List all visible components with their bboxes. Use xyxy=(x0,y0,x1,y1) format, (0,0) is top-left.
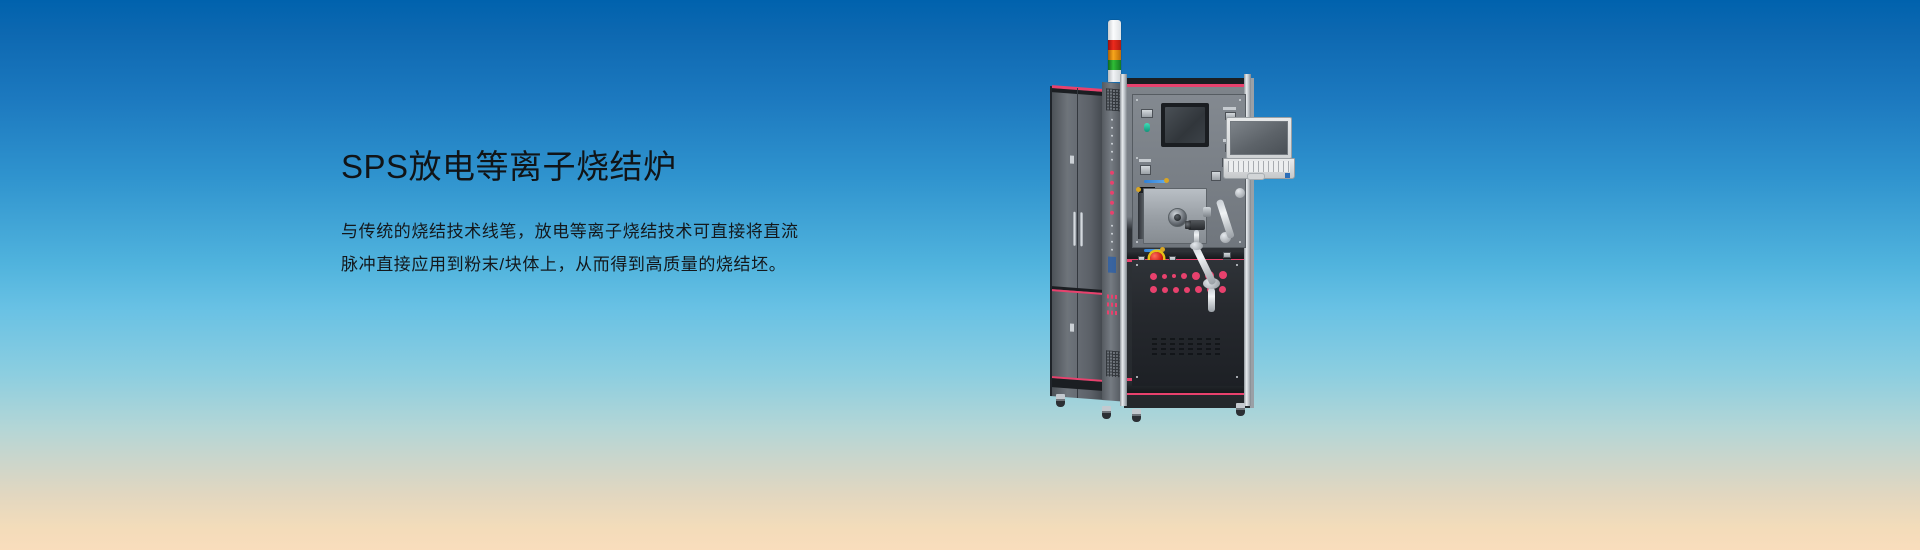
connector-dot xyxy=(1110,191,1114,195)
description-line-1: 与传统的烧结技术线笔，放电等离子烧结技术可直接将直流 xyxy=(341,215,901,248)
electrode-connector-panel xyxy=(1132,260,1244,386)
terminal-block xyxy=(1111,303,1113,307)
indicator-dot xyxy=(1111,159,1113,161)
valve-knob-lower[interactable] xyxy=(1160,247,1165,252)
terminal-block xyxy=(1115,311,1117,315)
indicator-dot xyxy=(1111,143,1113,145)
connector-dot xyxy=(1110,201,1114,205)
terminal-block xyxy=(1115,303,1117,307)
indicator-dot xyxy=(1111,151,1113,153)
indicator-dot xyxy=(1111,241,1113,243)
panel-knob[interactable] xyxy=(1136,187,1141,192)
ventilation-slots xyxy=(1152,338,1224,355)
power-toggle-switch[interactable] xyxy=(1141,109,1153,118)
laptop-screen[interactable] xyxy=(1230,121,1288,155)
connector-dot xyxy=(1219,286,1226,293)
camera-lens-icon xyxy=(1185,221,1191,229)
panel-button-far-right-1[interactable] xyxy=(1223,252,1231,258)
cabinet-door-handle-right[interactable] xyxy=(1080,212,1083,246)
rear-control-cabinet xyxy=(1050,86,1104,400)
panel-screw xyxy=(1136,264,1138,266)
panel-label-left-1 xyxy=(1139,159,1151,162)
indicator-dot xyxy=(1111,135,1113,137)
panel-label-right-1 xyxy=(1223,107,1236,110)
indicator-dot xyxy=(1111,249,1113,251)
hmi-touchscreen[interactable] xyxy=(1165,107,1205,143)
connector-dot xyxy=(1110,211,1114,215)
stack-light-amber xyxy=(1108,50,1121,60)
andon-stack-light-icon xyxy=(1108,20,1121,82)
terminal-block xyxy=(1115,295,1117,299)
valve-knob-upper[interactable] xyxy=(1164,178,1169,183)
monitor-arm-post xyxy=(1208,288,1215,312)
hero-text-block: SPS放电等离子烧结炉 与传统的烧结技术线笔，放电等离子烧结技术可直接将直流 脉… xyxy=(341,145,901,281)
frame-post-left xyxy=(1120,74,1127,406)
panel-screw xyxy=(1136,241,1138,243)
indicator-dot xyxy=(1111,233,1113,235)
panel-screw xyxy=(1239,99,1241,101)
connector-dot xyxy=(1172,274,1176,278)
panel-button-left-1[interactable] xyxy=(1140,165,1151,175)
cabinet-latch-upper[interactable] xyxy=(1070,155,1074,163)
caster-wheel xyxy=(1132,409,1141,422)
terminal-block xyxy=(1107,302,1109,306)
control-laptop[interactable] xyxy=(1226,117,1296,179)
body-top-accent-stripe xyxy=(1126,84,1248,87)
stack-light-red xyxy=(1108,40,1121,50)
connector-dot xyxy=(1110,181,1114,185)
terminal-block xyxy=(1107,294,1109,298)
description-line-2: 脉冲直接应用到粉末/块体上，从而得到高质量的烧结坯。 xyxy=(341,248,901,281)
connector-dot xyxy=(1184,287,1190,293)
connector-dot xyxy=(1150,273,1157,280)
laptop-trackpad[interactable] xyxy=(1247,173,1265,180)
camera-mount-joint xyxy=(1190,242,1203,250)
indicator-dot xyxy=(1111,127,1113,129)
stack-light-white-cap xyxy=(1108,20,1121,40)
hmi-touchscreen-bezel xyxy=(1161,103,1209,147)
panel-screw xyxy=(1136,99,1138,101)
caster-wheel xyxy=(1056,394,1065,407)
page-title: SPS放电等离子烧结炉 xyxy=(341,145,901,189)
indicator-dot xyxy=(1111,119,1113,121)
panel-screw xyxy=(1136,376,1138,378)
chamber-viewport-glass xyxy=(1174,214,1181,221)
chamber-hinge xyxy=(1138,193,1144,239)
cabinet-vent-grill xyxy=(1106,88,1120,111)
indicator-dot xyxy=(1111,225,1113,227)
monitor-arm-head-joint xyxy=(1235,188,1245,198)
cabinet-latch-lower[interactable] xyxy=(1070,323,1074,331)
stack-light-green xyxy=(1108,60,1121,70)
panel-screw xyxy=(1239,241,1241,243)
panel-screw xyxy=(1236,376,1238,378)
terminal-block xyxy=(1111,295,1113,299)
caster-wheel xyxy=(1102,406,1111,419)
laptop-base xyxy=(1223,158,1295,179)
sps-furnace-illustration xyxy=(1040,20,1300,430)
caster-wheel xyxy=(1236,403,1245,416)
panel-port[interactable] xyxy=(1211,171,1221,181)
connector-dot xyxy=(1195,286,1202,293)
chamber-latch-handle[interactable] xyxy=(1203,207,1211,217)
green-key-switch[interactable] xyxy=(1144,123,1150,132)
cabinet-door-seam xyxy=(1077,88,1078,398)
laptop-keyboard[interactable] xyxy=(1228,161,1290,172)
connector-dot xyxy=(1181,273,1187,279)
connector-dot xyxy=(1162,274,1167,279)
connector-dot xyxy=(1110,171,1114,175)
connector-dot xyxy=(1150,286,1157,293)
hero-banner: SPS放电等离子烧结炉 与传统的烧结技术线笔，放电等离子烧结技术可直接将直流 脉… xyxy=(0,0,1920,550)
connector-dot xyxy=(1219,271,1227,279)
laptop-badge-icon xyxy=(1285,173,1290,178)
connector-dot xyxy=(1162,287,1168,293)
connector-dot xyxy=(1173,287,1179,293)
laptop-lid xyxy=(1226,117,1292,159)
body-base-accent-stripe xyxy=(1126,393,1248,395)
cabinet-door-handle-left[interactable] xyxy=(1073,212,1076,246)
blue-valve-handle-upper[interactable] xyxy=(1144,180,1166,183)
panel-screw xyxy=(1136,157,1138,159)
cabinet-label-plate xyxy=(1108,256,1116,273)
cabinet-lower-vent-grill xyxy=(1106,350,1120,377)
terminal-block xyxy=(1111,311,1113,315)
panel-screw xyxy=(1236,264,1238,266)
hero-description: 与传统的烧结技术线笔，放电等离子烧结技术可直接将直流 脉冲直接应用到粉末/块体上… xyxy=(341,189,901,281)
connector-dot xyxy=(1192,272,1200,280)
terminal-block xyxy=(1107,310,1109,314)
